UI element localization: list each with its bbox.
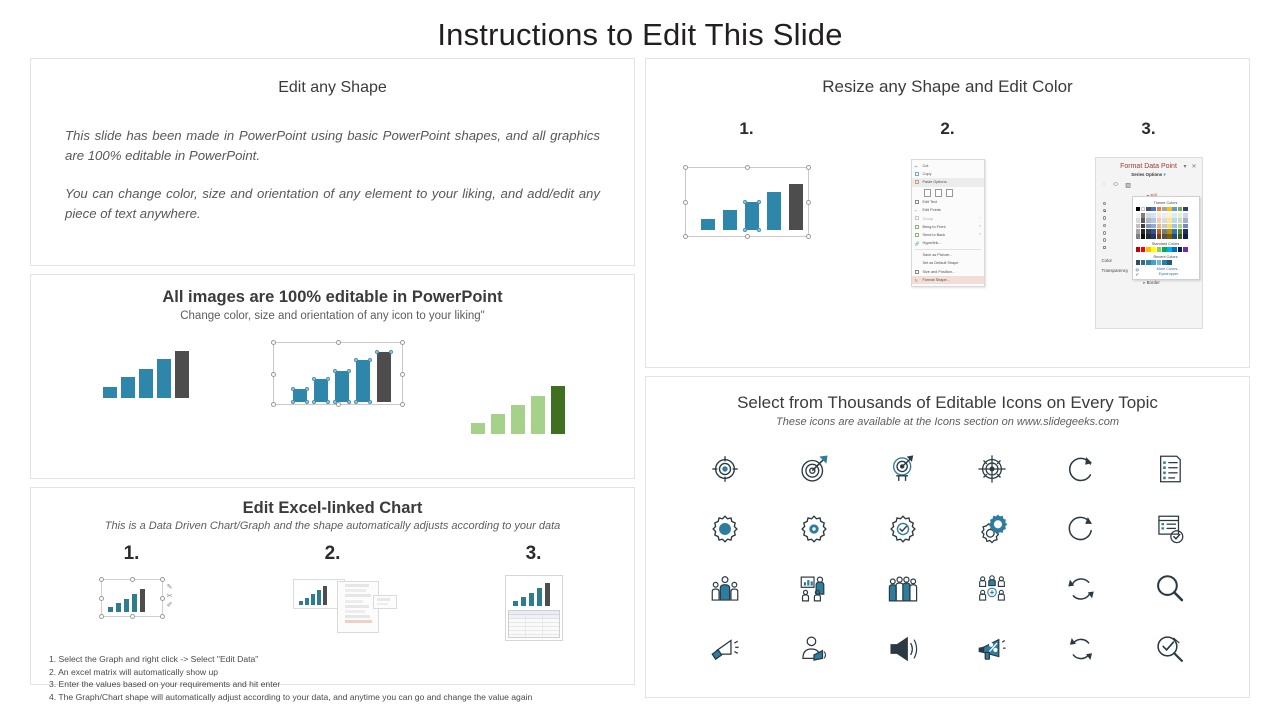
menu-item-save-as-picture[interactable]: Save as Picture... <box>912 252 984 260</box>
icon-team-leader[interactable] <box>680 564 769 614</box>
resize-handle-nw[interactable] <box>271 340 276 345</box>
menu-item-edit-text[interactable]: Edit Text <box>912 199 984 207</box>
panel-title-images-editable: All images are 100% editable in PowerPoi… <box>31 288 634 307</box>
panel-title-resize-shape: Resize any Shape and Edit Color <box>646 77 1249 97</box>
bar <box>121 377 135 398</box>
bar[interactable] <box>356 360 370 402</box>
menu-item-hyperlink[interactable]: 🔗 Hyperlink... <box>912 240 984 248</box>
series-tab-icon[interactable]: ▥ <box>1125 182 1131 189</box>
panel-subtitle-icons: These icons are available at the Icons s… <box>646 416 1249 428</box>
resize-handle-se[interactable] <box>806 234 811 239</box>
icon-target-stand[interactable] <box>858 444 947 494</box>
resize-handle-se[interactable] <box>400 402 405 407</box>
bar[interactable] <box>377 352 391 402</box>
format-data-point-pane[interactable]: Format Data Point ▾ ✕ Series Options ▾ ◌… <box>1095 157 1203 329</box>
resize-step-2: 2. ✂ Cut Copy <box>847 119 1048 333</box>
icon-magnifier[interactable] <box>1126 564 1215 614</box>
icon-team-meeting[interactable] <box>947 564 1036 614</box>
icon-gear-check[interactable] <box>858 504 947 554</box>
menu-item-cut[interactable]: ✂ Cut <box>912 162 984 170</box>
menu-item-bring-to-front[interactable]: Bring to Front › <box>912 223 984 231</box>
icon-crosshair-scope[interactable] <box>947 444 1036 494</box>
more-colors-option[interactable]: ◍ More Colors... <box>1136 267 1196 271</box>
resize-handle-sw[interactable] <box>271 402 276 407</box>
icon-presentation-people[interactable] <box>769 564 858 614</box>
context-menu[interactable]: ✂ Cut Copy Paste Options: <box>911 159 985 287</box>
resize-steps: 1. <box>646 119 1249 333</box>
menu-item-group: Group › <box>912 215 984 223</box>
edit-shape-paragraph-2: You can change color, size and orientati… <box>65 184 600 224</box>
paste-keep-formatting-icon[interactable] <box>924 189 931 197</box>
icon-gear-solid[interactable] <box>680 504 769 554</box>
bar[interactable] <box>293 389 307 402</box>
step-2-thumbnail <box>232 571 433 649</box>
chart-blue-plain <box>103 344 189 398</box>
paste-picture-icon[interactable] <box>935 189 942 197</box>
hyperlink-icon: 🔗 <box>915 241 920 246</box>
bar[interactable] <box>314 379 328 402</box>
more-colors-icon: ◍ <box>1136 267 1139 272</box>
theme-colors-label: Theme Colors <box>1136 201 1196 205</box>
scissors-icon: ✂ <box>915 164 920 169</box>
panel-editable-icons: Select from Thousands of Editable Icons … <box>645 376 1250 698</box>
bring-to-front-icon <box>915 225 919 229</box>
step-number: 2. <box>847 119 1048 139</box>
panel-title-icons: Select from Thousands of Editable Icons … <box>646 393 1249 413</box>
bar <box>157 359 171 398</box>
bar[interactable] <box>767 192 781 230</box>
resize-step-3-illustration: Format Data Point ▾ ✕ Series Options ▾ ◌… <box>1048 153 1249 333</box>
resize-handle-w[interactable] <box>271 372 276 377</box>
resize-step-3: 3. Format Data Point ▾ ✕ Series Options … <box>1048 119 1249 333</box>
instruction-note: 2. An excel matrix will automatically sh… <box>49 666 616 679</box>
eyedropper-option[interactable]: ✐ Eyedropper <box>1136 272 1196 276</box>
bar <box>103 387 117 398</box>
icon-target-crosshair[interactable] <box>680 444 769 494</box>
fill-line-tab-icon[interactable]: ◌ <box>1103 182 1107 189</box>
menu-item-set-as-default-shape[interactable]: Set as Default Shape <box>912 260 984 268</box>
series-options-label[interactable]: Series Options ▾ <box>1096 171 1202 179</box>
bar-chart-showcase <box>31 322 634 472</box>
icon-gear-center[interactable] <box>769 504 858 554</box>
step-number: 2. <box>232 543 433 565</box>
color-label: Color <box>1102 258 1113 263</box>
theme-colors-tints[interactable] <box>1136 213 1196 239</box>
paste-icon <box>915 180 919 185</box>
effects-tab-icon[interactable]: ⬭ <box>1113 182 1118 189</box>
bar <box>551 386 565 434</box>
theme-colors-top-row[interactable] <box>1136 207 1196 212</box>
resize-handle-e[interactable] <box>400 372 405 377</box>
step-number: 1. <box>31 543 232 565</box>
bar <box>511 405 525 434</box>
format-shape-icon: ✎ <box>915 278 920 283</box>
recent-colors-row[interactable] <box>1136 260 1196 265</box>
instruction-note: 1. Select the Graph and right click -> S… <box>49 653 616 666</box>
panel-title-edit-shape: Edit any Shape <box>65 79 600 97</box>
icon-group-people[interactable] <box>858 564 947 614</box>
resize-handle-ne[interactable] <box>806 165 811 170</box>
menu-item-send-to-back[interactable]: Send to Back › <box>912 231 984 239</box>
step-number: 3. <box>433 543 634 565</box>
bar <box>471 423 485 434</box>
paste-option-buttons[interactable] <box>912 187 984 199</box>
icon-gears-double[interactable] <box>947 504 1036 554</box>
icon-circular-sync[interactable] <box>1037 624 1126 674</box>
standard-colors-label: Standard Colors <box>1136 242 1196 246</box>
group-icon <box>915 216 919 220</box>
resize-handle-e[interactable] <box>806 200 811 205</box>
left-column: Edit any Shape This slide has been made … <box>30 58 635 698</box>
bar[interactable] <box>335 371 349 402</box>
icon-megaphone[interactable] <box>680 624 769 674</box>
step-number: 3. <box>1048 119 1249 139</box>
selection-frame[interactable] <box>685 167 809 237</box>
icon-refresh-arrow[interactable] <box>1037 444 1126 494</box>
panel-images-editable: All images are 100% editable in PowerPoi… <box>30 274 635 479</box>
excel-instruction-notes: 1. Select the Graph and right click -> S… <box>31 649 634 703</box>
resize-step-1: 1. <box>646 119 847 333</box>
color-palette-flyout[interactable]: Theme Colors <box>1132 196 1200 280</box>
bar <box>175 351 189 398</box>
copy-icon <box>915 172 919 177</box>
panel-subtitle-images-editable: Change color, size and orientation of an… <box>31 310 634 322</box>
slide-root: Instructions to Edit This Slide Edit any… <box>0 0 1280 720</box>
resize-handle-w[interactable] <box>683 200 688 205</box>
icon-person-megaphone[interactable] <box>769 624 858 674</box>
step-number: 1. <box>646 119 847 139</box>
resize-step-2-illustration: ✂ Cut Copy Paste Options: <box>847 153 1048 333</box>
chart-green <box>471 382 565 434</box>
excel-step-3: 3. <box>433 543 634 649</box>
paste-text-only-icon[interactable] <box>946 189 953 197</box>
pane-options-icon[interactable]: ▾ <box>1183 163 1186 170</box>
chart-blue-selected[interactable] <box>701 180 803 230</box>
excel-steps: 1. <box>31 543 634 649</box>
panel-resize-shape: Resize any Shape and Edit Color 1. <box>645 58 1250 368</box>
instruction-note: 4. The Graph/Chart shape will automatica… <box>49 691 616 704</box>
chevron-down-icon[interactable]: ▾ <box>1164 172 1166 177</box>
icon-reload-circle[interactable] <box>1037 504 1126 554</box>
menu-item-format-shape[interactable]: ✎ Format Shape... <box>912 276 984 284</box>
size-position-icon <box>915 270 919 274</box>
step-1-thumbnail: ✎ ✂ ✐ <box>31 571 232 649</box>
icon-magnifier-check[interactable] <box>1126 624 1215 674</box>
menu-item-size-and-position[interactable]: Size and Position... <box>912 268 984 276</box>
resize-handle-sw[interactable] <box>683 234 688 239</box>
bar[interactable] <box>723 210 737 230</box>
close-icon[interactable]: ✕ <box>1191 163 1196 170</box>
panel-excel-linked-chart: Edit Excel-linked Chart This is a Data D… <box>30 487 635 685</box>
panel-title-excel-chart: Edit Excel-linked Chart <box>31 499 634 518</box>
icon-megaphone-percent[interactable] <box>947 624 1036 674</box>
eyedropper-icon: ✐ <box>1136 272 1139 277</box>
resize-handle-n[interactable] <box>336 340 341 345</box>
bar[interactable] <box>701 219 715 230</box>
panel-subtitle-excel-chart: This is a Data Driven Chart/Graph and th… <box>31 520 634 532</box>
panel-edit-any-shape: Edit any Shape This slide has been made … <box>30 58 635 266</box>
menu-item-paste-options[interactable]: Paste Options: <box>912 178 984 186</box>
right-column: Resize any Shape and Edit Color 1. <box>645 58 1250 698</box>
excel-step-1: 1. <box>31 543 232 649</box>
send-to-back-icon <box>915 233 919 237</box>
content-columns: Edit any Shape This slide has been made … <box>0 58 1280 698</box>
bar[interactable] <box>789 184 803 230</box>
instruction-note: 3. Enter the values based on your requir… <box>49 678 616 691</box>
bar <box>139 369 153 398</box>
icon-dartboard-dart[interactable] <box>769 444 858 494</box>
resize-handle-ne[interactable] <box>400 340 405 345</box>
edit-text-icon <box>915 200 919 204</box>
standard-colors-row[interactable] <box>1136 247 1196 252</box>
excel-step-2: 2. <box>232 543 433 649</box>
page-title: Instructions to Edit This Slide <box>0 0 1280 58</box>
resize-handle-s[interactable] <box>745 234 750 239</box>
chart-blue-selected[interactable] <box>293 347 391 402</box>
edit-points-icon: ⌁ <box>915 208 920 213</box>
edit-shape-paragraph-1: This slide has been made in PowerPoint u… <box>65 126 600 166</box>
icons-grid <box>646 428 1249 674</box>
icon-sync-arrows[interactable] <box>1037 564 1126 614</box>
resize-handle-nw[interactable] <box>683 165 688 170</box>
step-3-thumbnail <box>433 571 634 649</box>
icon-checklist-document[interactable] <box>1126 444 1215 494</box>
menu-item-copy[interactable]: Copy <box>912 170 984 178</box>
bar[interactable] <box>745 202 759 230</box>
bar <box>491 414 505 434</box>
menu-item-edit-points[interactable]: ⌁ Edit Points <box>912 207 984 215</box>
recent-colors-label: Recent Colors <box>1136 255 1196 259</box>
bar <box>531 396 545 434</box>
resize-step-1-illustration <box>646 153 847 333</box>
icon-speaker-announce[interactable] <box>858 624 947 674</box>
icon-document-approved[interactable] <box>1126 504 1215 554</box>
menu-separator <box>915 249 981 250</box>
resize-handle-n[interactable] <box>745 165 750 170</box>
format-pane-tabs[interactable]: ◌ ⬭ ▥ <box>1096 179 1202 191</box>
transparency-label: Transparency <box>1102 268 1129 273</box>
